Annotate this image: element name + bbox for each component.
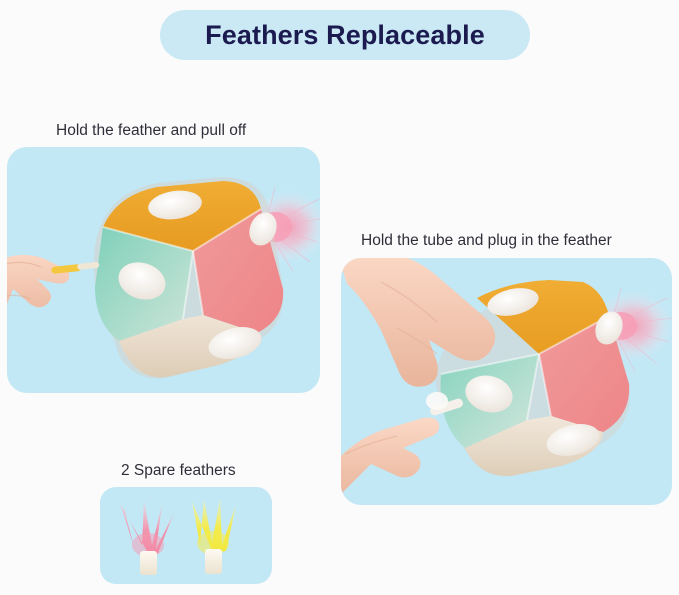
spare-feather-pink-tube (140, 551, 157, 575)
spare-feathers-panel (100, 487, 272, 584)
hand-pulling-feather (7, 255, 69, 319)
spare-feathers-scene (100, 487, 272, 584)
step1-illustration (7, 147, 320, 393)
spare-feather-yellow (192, 499, 236, 574)
hand-inserting-feather (341, 418, 439, 500)
step1-photo-panel (7, 147, 320, 393)
step2-caption: Hold the tube and plug in the feather (361, 232, 612, 250)
step2-photo-panel (341, 258, 672, 505)
step1-scene (7, 147, 320, 393)
spare-feather-yellow-tube (205, 549, 222, 574)
spare-feathers-illustration (100, 487, 272, 584)
step2-illustration (341, 258, 672, 505)
step2-scene (341, 258, 672, 505)
title-banner: Feathers Replaceable (160, 10, 530, 60)
step1-caption: Hold the feather and pull off (56, 122, 246, 140)
yellow-feather-stick (51, 262, 100, 274)
spare-feather-pink (120, 501, 174, 575)
cat-toy-body (94, 177, 284, 378)
spare-feathers-caption: 2 Spare feathers (121, 462, 236, 480)
page-title: Feathers Replaceable (205, 20, 485, 51)
